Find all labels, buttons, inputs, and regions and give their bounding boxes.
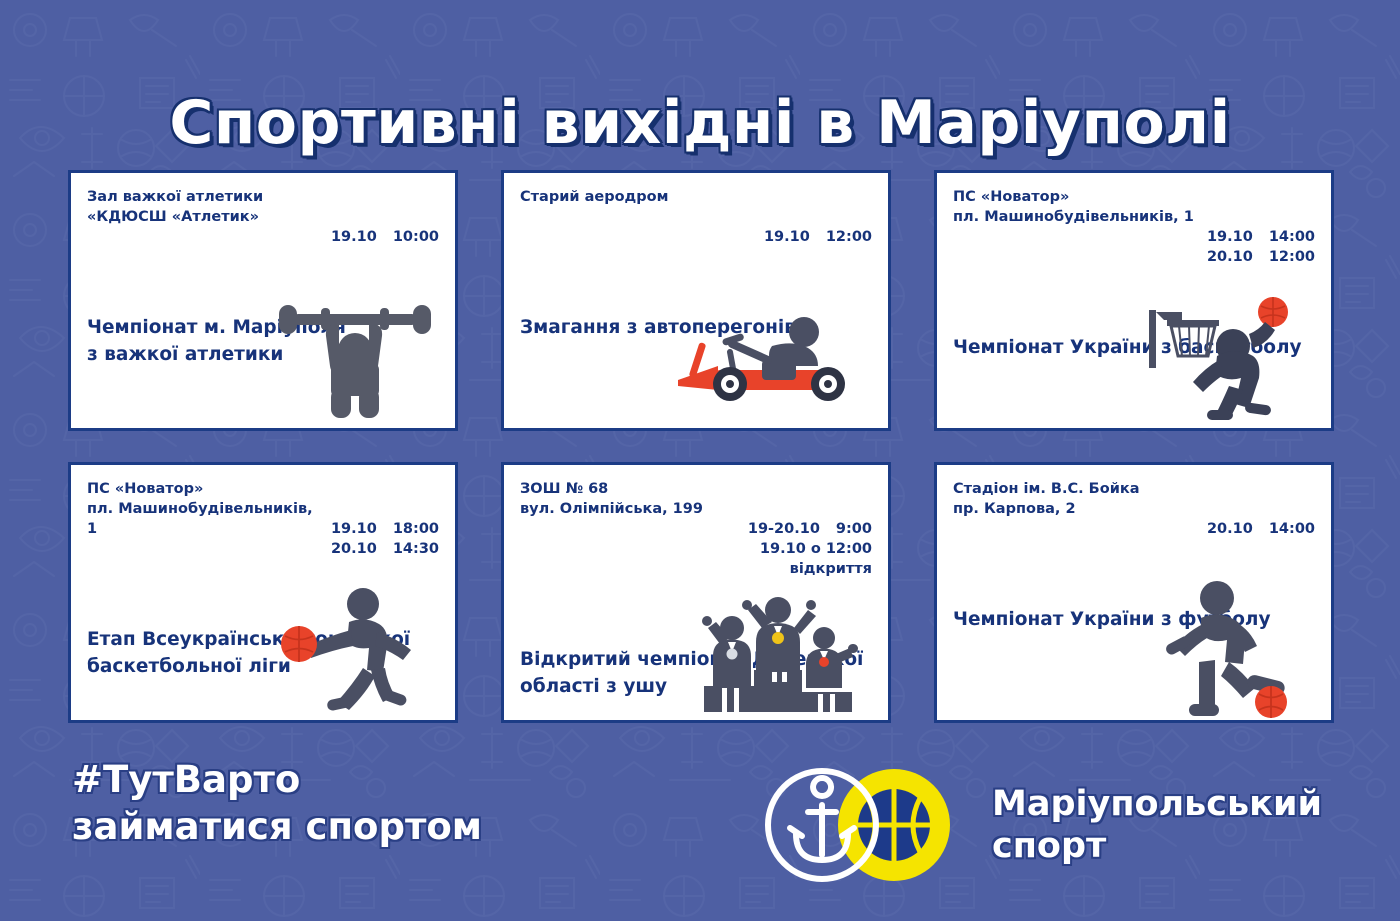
- page-title: Спортивні вихідні в Маріуполі: [169, 92, 1230, 155]
- event-time: 10:00: [393, 227, 439, 247]
- event-date: 20.10: [331, 539, 377, 559]
- event-date: 19-20.10: [748, 519, 820, 539]
- event-schedule: 20.10 14:00: [1207, 479, 1315, 579]
- event-card[interactable]: Зал важкої атлетики «КДЮСШ «Атлетик» 19.…: [68, 170, 458, 431]
- event-card[interactable]: ПС «Новатор» пл. Машинобудівельників, 1 …: [68, 462, 458, 723]
- event-venue: Зал важкої атлетики «КДЮСШ «Атлетик»: [87, 187, 263, 227]
- event-card[interactable]: ЗОШ № 68 вул. Олімпійська, 199 19-20.10 …: [501, 462, 891, 723]
- event-time: 14:30: [393, 539, 439, 559]
- brand-mark: [760, 766, 980, 884]
- event-venue: ЗОШ № 68 вул. Олімпійська, 199: [520, 479, 703, 519]
- event-schedule: 19-20.10 9:00 19.10 о 12:00 відкриття: [748, 479, 872, 619]
- event-title: Змагання з автоперегонів: [504, 287, 888, 342]
- event-time: 12:00: [1269, 247, 1315, 267]
- event-title: Чемпіонат м. Маріуполя з важкої атлетики: [71, 287, 455, 369]
- event-schedule: 19.10 10:00: [331, 187, 439, 287]
- event-venue: ПС «Новатор» пл. Машинобудівельників, 1: [87, 479, 323, 539]
- poster-root: Спортивні вихідні в Маріуполі Зал важкої…: [0, 0, 1400, 921]
- brand-lockup: Маріупольський спорт: [760, 766, 1322, 884]
- card-header: Старий аеродром 19.10 12:00: [504, 173, 888, 287]
- event-date: 20.10: [1207, 247, 1253, 267]
- event-title: Чемпіонат України з футболу: [937, 579, 1331, 634]
- hashtag-slogan: #ТутВарто займатися спортом: [72, 756, 482, 851]
- event-schedule: 19.10 12:00: [764, 187, 872, 287]
- event-time: 14:00: [1269, 227, 1315, 247]
- event-card[interactable]: Стадіон ім. В.С. Бойка пр. Карпова, 2 20…: [934, 462, 1334, 723]
- event-time: 12:00: [826, 227, 872, 247]
- event-time: 9:00: [836, 519, 872, 539]
- event-title: Етап Всеукраїнської юнацької баскетбольн…: [71, 599, 455, 681]
- event-card[interactable]: Старий аеродром 19.10 12:00 Змагання з а…: [501, 170, 891, 431]
- event-date-secondary: 19.10 о 12:00: [760, 539, 872, 559]
- event-card[interactable]: ПС «Новатор» пл. Машинобудівельників, 1 …: [934, 170, 1334, 431]
- event-schedule: 19.10 18:00 20.10 14:30: [331, 479, 439, 599]
- card-header: Стадіон ім. В.С. Бойка пр. Карпова, 2 20…: [937, 465, 1331, 579]
- event-schedule: 19.10 14:00 20.10 12:00: [1207, 187, 1315, 307]
- events-grid: Зал важкої атлетики «КДЮСШ «Атлетик» 19.…: [68, 170, 1334, 723]
- event-time: 14:00: [1269, 519, 1315, 539]
- event-date: 19.10: [1207, 227, 1253, 247]
- card-header: Зал важкої атлетики «КДЮСШ «Атлетик» 19.…: [71, 173, 455, 287]
- event-date: 19.10: [331, 227, 377, 247]
- event-note: відкриття: [790, 559, 872, 579]
- event-title: Чемпіонат України з баскетболу: [937, 307, 1331, 362]
- event-venue: Стадіон ім. В.С. Бойка пр. Карпова, 2: [953, 479, 1139, 519]
- card-header: ПС «Новатор» пл. Машинобудівельників, 1 …: [937, 173, 1331, 307]
- event-venue: ПС «Новатор» пл. Машинобудівельників, 1: [953, 187, 1194, 227]
- card-header: ЗОШ № 68 вул. Олімпійська, 199 19-20.10 …: [504, 465, 888, 619]
- card-header: ПС «Новатор» пл. Машинобудівельників, 1 …: [71, 465, 455, 599]
- event-time: 18:00: [393, 519, 439, 539]
- event-title: Відкритий чемпіонат Донецької області з …: [504, 619, 888, 701]
- event-date: 20.10: [1207, 519, 1253, 539]
- event-venue: Старий аеродром: [520, 187, 668, 207]
- event-date: 19.10: [764, 227, 810, 247]
- event-date: 19.10: [331, 519, 377, 539]
- brand-name: Маріупольський спорт: [992, 783, 1322, 867]
